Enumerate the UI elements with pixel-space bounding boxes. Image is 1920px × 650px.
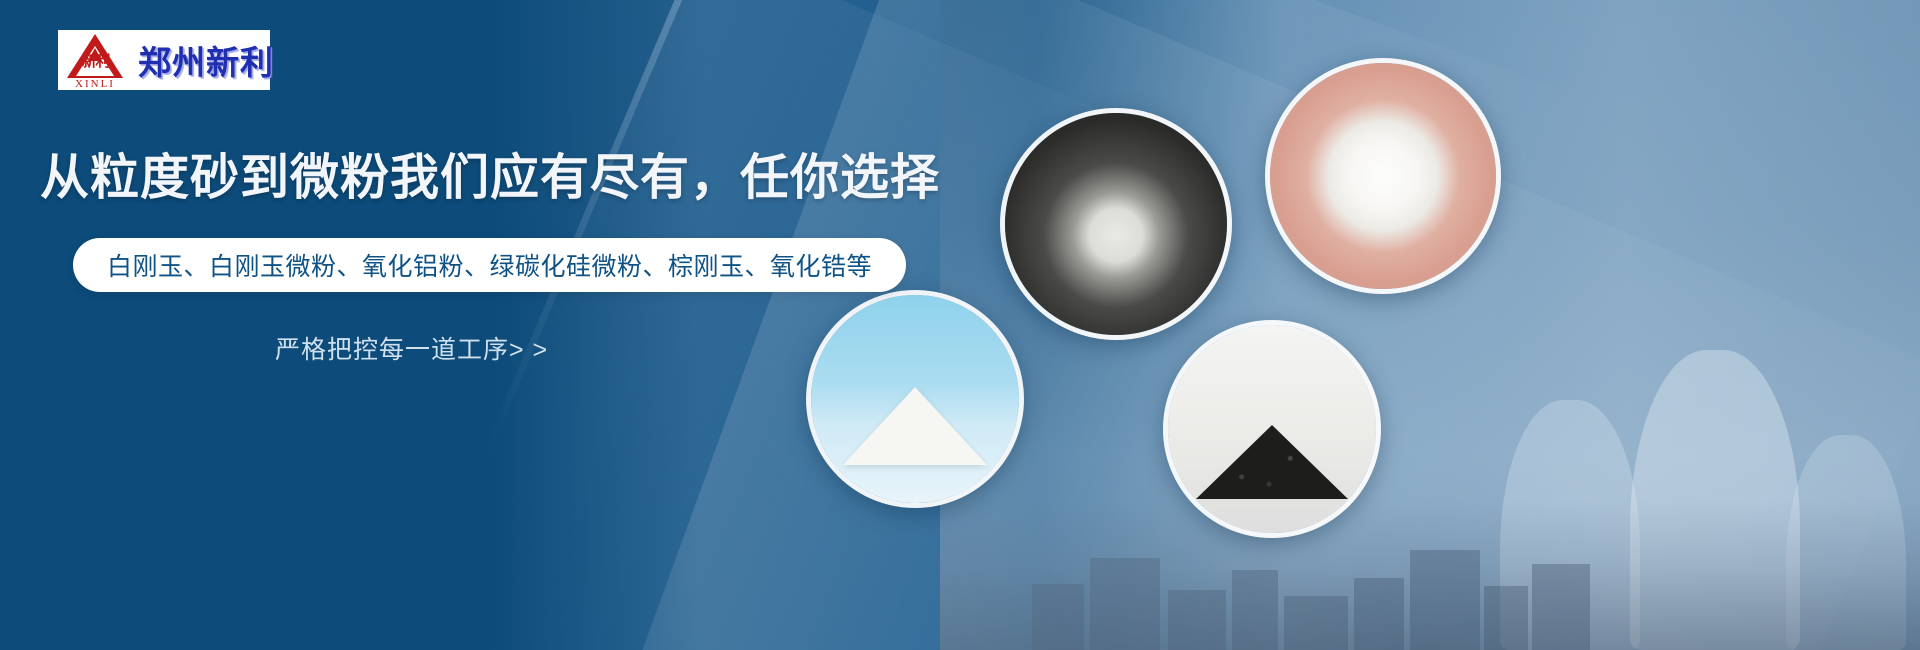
left-color-mask <box>0 0 700 650</box>
black-granules-pile-icon <box>1168 325 1376 533</box>
white-granules-dark-background-icon <box>1005 113 1227 335</box>
white-powder-salmon-dish-icon <box>1270 63 1496 289</box>
hero-banner: 新利 XINLI 郑州新利 从粒度砂到微粉我们应有尽有，任你选择 白刚玉、白刚玉… <box>0 0 1920 650</box>
triangle-logo-mark-icon: 新利 XINLI <box>64 32 126 88</box>
tagline-link[interactable]: 严格把控每一道工序> > <box>275 330 548 366</box>
product-photo-circle[interactable] <box>806 290 1024 508</box>
granule-texture <box>1196 425 1348 499</box>
logo-mark-chinese: 新利 <box>67 54 124 70</box>
product-list-pill[interactable]: 白刚玉、白刚玉微粉、氧化铝粉、绿碳化硅微粉、棕刚玉、氧化锆等 <box>73 238 906 292</box>
product-list-text: 白刚玉、白刚玉微粉、氧化铝粉、绿碳化硅微粉、棕刚玉、氧化锆等 <box>107 247 872 283</box>
powder-cone-shape <box>843 387 987 465</box>
headline: 从粒度砂到微粉我们应有尽有，任你选择 <box>40 138 940 209</box>
white-powder-cone-blue-icon <box>811 295 1019 503</box>
logo-mark-pinyin: XINLI <box>64 78 126 90</box>
product-photo-circle[interactable] <box>1000 108 1232 340</box>
company-name: 郑州新利 <box>138 36 274 84</box>
company-logo[interactable]: 新利 XINLI 郑州新利 <box>58 30 270 90</box>
product-photo-circle[interactable] <box>1265 58 1501 294</box>
product-photo-circle[interactable] <box>1163 320 1381 538</box>
